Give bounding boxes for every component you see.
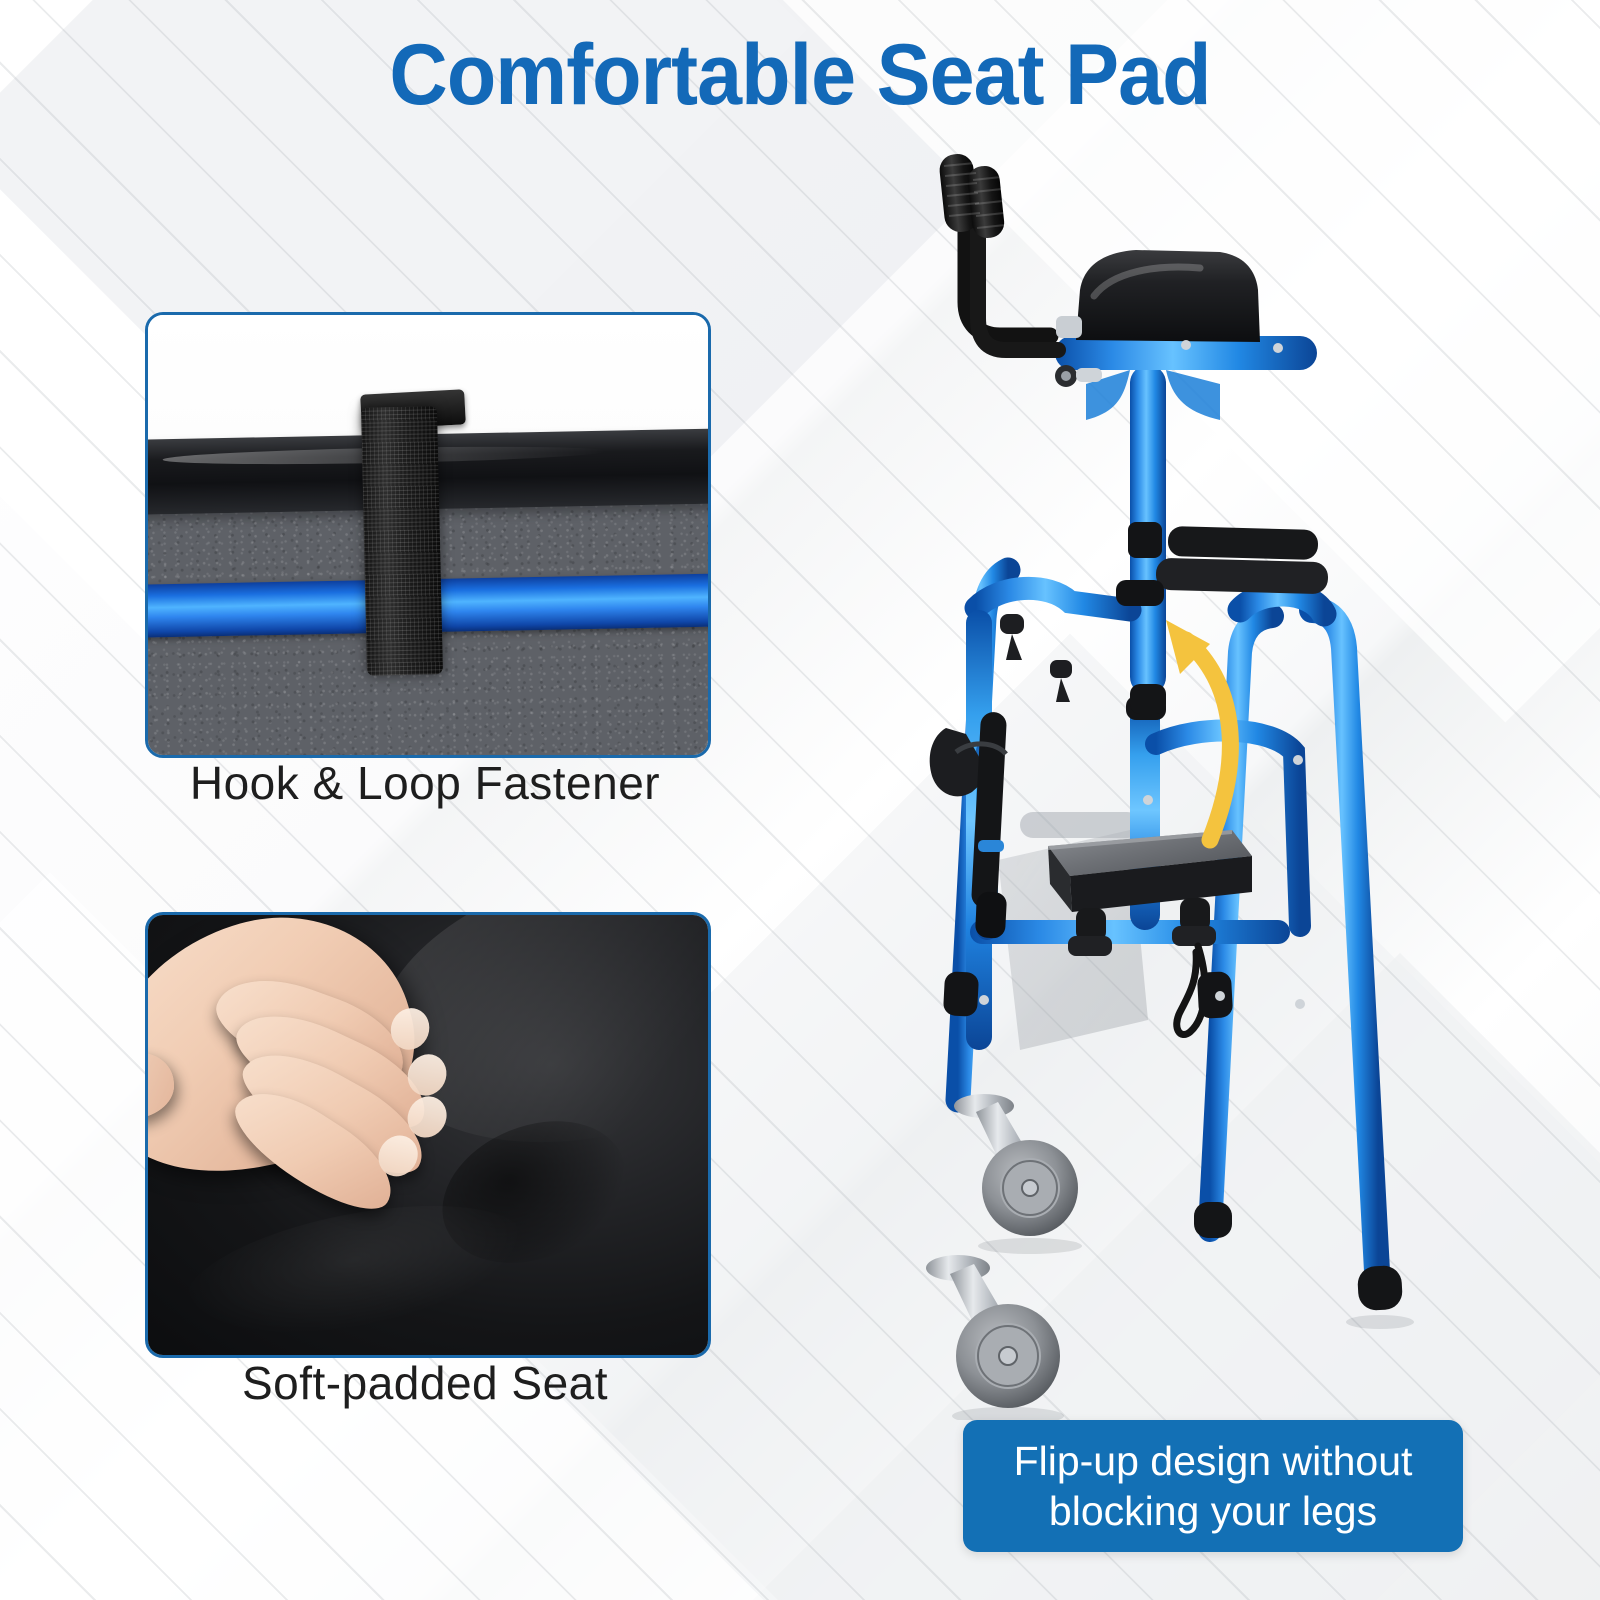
callout-line-1: Flip-up design without [1014, 1438, 1413, 1484]
marketing-image-canvas: Comfortable Seat Pad Hook & Loop Fastene… [0, 0, 1600, 1600]
page-title: Comfortable Seat Pad [48, 26, 1552, 125]
callout-line-2: blocking your legs [1049, 1488, 1377, 1534]
caption-hook-loop: Hook & Loop Fastener [145, 756, 705, 810]
callout-text: Flip-up design without blocking your leg… [1014, 1436, 1413, 1536]
caster-wheel-front [926, 1255, 1060, 1408]
caption-soft-padded: Soft-padded Seat [145, 1356, 705, 1410]
callout-flip-up-design: Flip-up design without blocking your leg… [963, 1420, 1463, 1552]
panel2-hand [145, 924, 523, 1250]
armrest-pad [1076, 250, 1260, 342]
inset-panel-hook-loop [145, 312, 711, 758]
product-image-rollator-walker [880, 140, 1440, 1420]
handle-grips [938, 152, 1058, 350]
caster-wheel-rear [954, 1094, 1078, 1236]
inset-panel-soft-padded [145, 912, 711, 1358]
panel1-hook-loop-strap [361, 407, 443, 677]
